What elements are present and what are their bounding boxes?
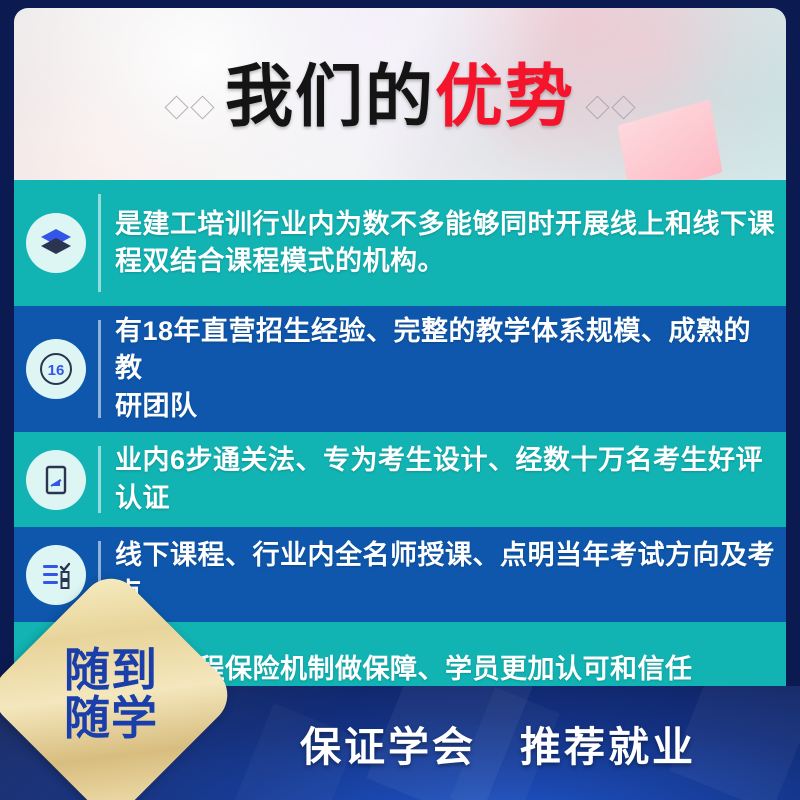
- promo-poster: 我们的优势 是建工培训行业内为数不多能够同时开展线上和线下课 程双结合课程模式的…: [0, 0, 800, 800]
- feature-text: 业内6步通关法、专为考生设计、经数十万名考生好评认证: [115, 442, 776, 517]
- diamond-outline-icon: [190, 95, 214, 119]
- diamond-outline-icon: [164, 95, 188, 119]
- diamond-outline-icon: [611, 95, 635, 119]
- gold-badge-label: 随到 随学: [20, 604, 202, 786]
- header-title-row: 我们的优势: [14, 8, 786, 180]
- page-title-primary: 我们的: [225, 59, 435, 135]
- feature-row: 业内6步通关法、专为考生设计、经数十万名考生好评认证: [14, 432, 786, 527]
- row-divider: [98, 446, 101, 513]
- certificate-document-icon: [26, 450, 86, 510]
- svg-text:16: 16: [48, 362, 65, 379]
- frame-edge-top: [0, 0, 800, 8]
- bottom-slogan-text: 保证学会 推荐就业: [300, 686, 696, 800]
- gold-badge-line2: 随学: [64, 695, 158, 743]
- diamond-decor-right-group: [589, 99, 632, 116]
- checklist-icon: [26, 545, 86, 605]
- page-title: 我们的优势: [225, 63, 575, 131]
- diamond-decor-left-group: [168, 99, 211, 116]
- stacked-layers-icon: [26, 213, 86, 273]
- feature-row: 是建工培训行业内为数不多能够同时开展线上和线下课 程双结合课程模式的机构。: [14, 180, 786, 306]
- row-divider: [98, 320, 101, 418]
- poster-header: 我们的优势: [14, 8, 786, 180]
- row-divider: [98, 194, 101, 292]
- frame-edge-right: [786, 0, 800, 690]
- gold-badge-line1: 随到: [64, 647, 158, 695]
- frame-edge-left: [0, 0, 14, 690]
- feature-text: 线下课程、行业内全名师授课、点明当年考试方向及考点: [115, 537, 776, 612]
- feature-text: 是建工培训行业内为数不多能够同时开展线上和线下课 程双结合课程模式的机构。: [115, 206, 775, 281]
- feature-text: 有18年直营招生经验、完整的教学体系规模、成熟的教 研团队: [115, 313, 776, 425]
- page-title-accent: 优势: [435, 59, 575, 135]
- diamond-outline-icon: [585, 95, 609, 119]
- year-badge-16-icon: 16: [26, 339, 86, 399]
- feature-row: 16 有18年直营招生经验、完整的教学体系规模、成熟的教 研团队: [14, 306, 786, 432]
